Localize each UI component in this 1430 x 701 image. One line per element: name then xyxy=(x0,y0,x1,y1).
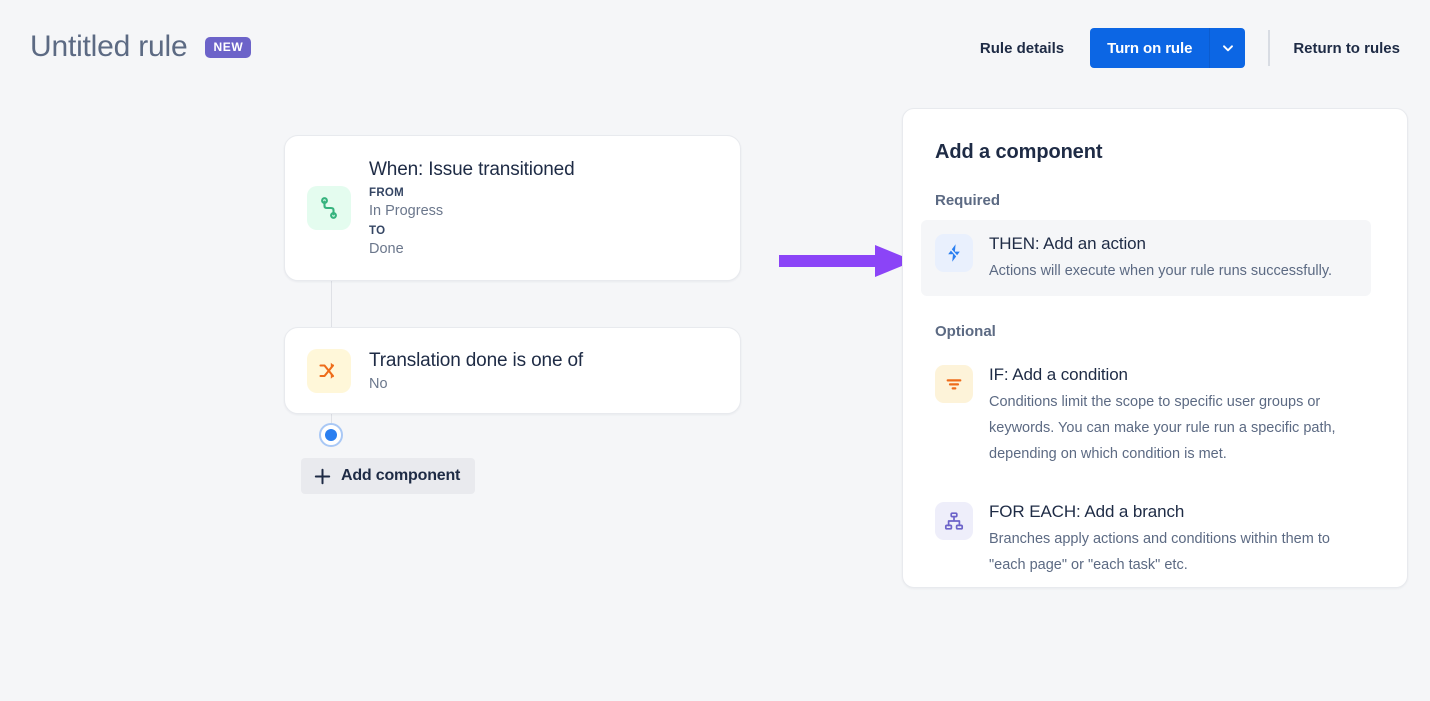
option-title: FOR EACH: Add a branch xyxy=(989,500,1357,523)
optional-section-heading: Optional xyxy=(935,322,1375,342)
option-description: Branches apply actions and conditions wi… xyxy=(989,526,1357,578)
turn-on-rule-dropdown-button[interactable] xyxy=(1209,28,1245,68)
lightning-bolt-icon xyxy=(935,234,973,272)
chevron-down-icon xyxy=(1221,41,1235,55)
header-divider xyxy=(1268,30,1270,66)
component-option-text: THEN: Add an action Actions will execute… xyxy=(989,232,1332,284)
option-description: Conditions limit the scope to specific u… xyxy=(989,389,1357,467)
condition-title: Translation done is one of xyxy=(369,348,718,374)
component-option-text: IF: Add a condition Conditions limit the… xyxy=(989,363,1357,467)
header-actions: Rule details Turn on rule Return to rule… xyxy=(968,28,1402,68)
trigger-to-label: TO xyxy=(369,223,718,240)
option-title: THEN: Add an action xyxy=(989,232,1332,255)
transition-branch-icon xyxy=(307,186,351,230)
option-title: IF: Add a condition xyxy=(989,363,1357,386)
return-to-rules-button[interactable]: Return to rules xyxy=(1291,31,1402,66)
trigger-from-value: In Progress xyxy=(369,202,718,221)
trigger-from-label: FROM xyxy=(369,185,718,202)
connector-line xyxy=(331,281,332,327)
title-group: Untitled rule NEW xyxy=(30,27,251,67)
trigger-card-body: When: Issue transitioned FROM In Progres… xyxy=(369,157,718,259)
condition-card-body: Translation done is one of No xyxy=(369,348,718,394)
page-header: Untitled rule NEW Rule details Turn on r… xyxy=(0,0,1430,94)
add-component-panel: Add a component Required THEN: Add an ac… xyxy=(902,108,1408,588)
rule-details-button[interactable]: Rule details xyxy=(968,31,1076,66)
component-option-if-add-condition[interactable]: IF: Add a condition Conditions limit the… xyxy=(921,351,1371,479)
trigger-to-value: Done xyxy=(369,240,718,259)
insertion-point-dot-icon[interactable] xyxy=(319,423,343,447)
new-badge: NEW xyxy=(205,37,251,58)
option-description: Actions will execute when your rule runs… xyxy=(989,258,1332,284)
rule-canvas: When: Issue transitioned FROM In Progres… xyxy=(0,94,900,701)
condition-card[interactable]: Translation done is one of No xyxy=(284,327,741,414)
branch-hierarchy-icon xyxy=(935,502,973,540)
page-title: Untitled rule xyxy=(30,27,187,67)
plus-icon xyxy=(313,467,332,486)
add-component-button[interactable]: Add component xyxy=(301,458,475,494)
turn-on-rule-button[interactable]: Turn on rule xyxy=(1090,28,1209,68)
component-option-text: FOR EACH: Add a branch Branches apply ac… xyxy=(989,500,1357,578)
component-option-for-each-add-branch[interactable]: FOR EACH: Add a branch Branches apply ac… xyxy=(921,488,1371,590)
required-section-heading: Required xyxy=(935,191,1375,211)
condition-value: No xyxy=(369,375,718,394)
insertion-point-dot-inner xyxy=(325,429,337,441)
trigger-card[interactable]: When: Issue transitioned FROM In Progres… xyxy=(284,135,741,281)
component-option-then-add-action[interactable]: THEN: Add an action Actions will execute… xyxy=(921,220,1371,296)
shuffle-arrows-icon xyxy=(307,349,351,393)
add-component-label: Add component xyxy=(341,467,460,485)
panel-title: Add a component xyxy=(935,139,1375,165)
trigger-title: When: Issue transitioned xyxy=(369,157,718,183)
turn-on-rule-button-group: Turn on rule xyxy=(1090,28,1245,68)
filter-funnel-icon xyxy=(935,365,973,403)
